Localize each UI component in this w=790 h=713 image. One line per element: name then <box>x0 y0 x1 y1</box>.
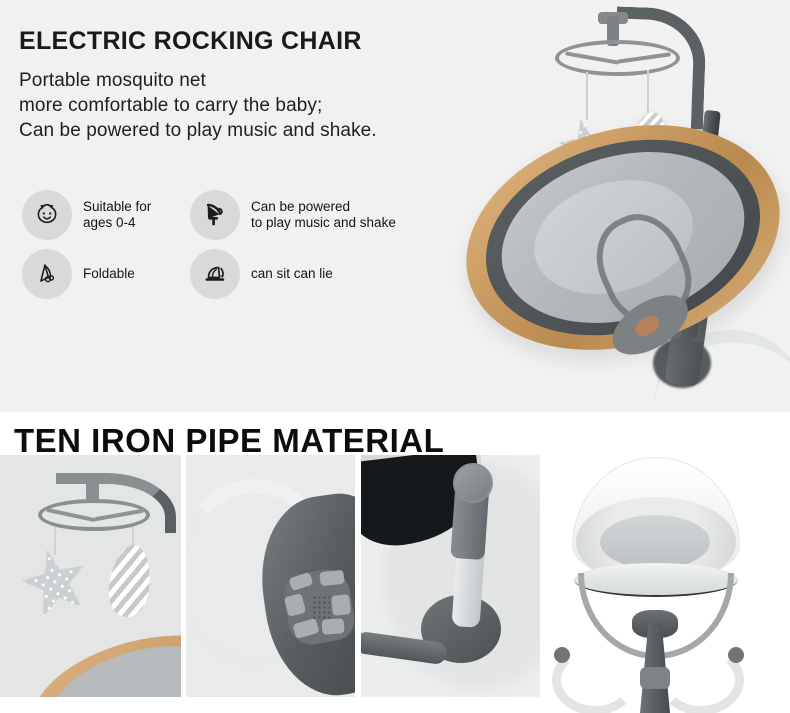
feature-list: Suitable for ages 0-4 Can be powered <box>22 185 410 303</box>
hinge-cap <box>453 463 493 503</box>
control-button[interactable] <box>319 570 344 586</box>
foldable-stroller-icon <box>22 249 72 299</box>
feature-label-powered: Can be powered to play music and shake <box>251 199 396 231</box>
hero-section: ELECTRIC ROCKING CHAIR Portable mosquito… <box>0 0 790 412</box>
foot-tip <box>728 647 744 663</box>
feature-label-recline-line-1: can sit can lie <box>251 266 333 282</box>
feature-label-powered-line-1: Can be powered <box>251 199 396 215</box>
material-banner-section: TEN IRON PIPE MATERIAL <box>0 412 790 713</box>
mobile-spoke <box>94 509 144 522</box>
feature-item-age: Suitable for ages 0-4 <box>22 185 190 244</box>
hero-subtitle-line-3: Can be powered to play music and shake. <box>19 118 377 143</box>
feature-label-recline: can sit can lie <box>251 266 333 282</box>
control-button[interactable] <box>331 594 351 616</box>
toy-string <box>647 70 649 114</box>
hero-subtitle-line-1: Portable mosquito net <box>19 68 377 93</box>
panel-full-product <box>540 455 790 713</box>
feature-item-foldable: Foldable <box>22 244 190 303</box>
wood-trim-frame <box>19 614 181 697</box>
foot-tip <box>554 647 570 663</box>
seat-cushion <box>600 515 710 569</box>
mobile-spoke <box>46 508 96 522</box>
feature-label-age: Suitable for ages 0-4 <box>83 199 151 231</box>
feature-label-age-line-1: Suitable for <box>83 199 151 215</box>
feature-item-powered: Can be powered to play music and shake <box>190 185 410 244</box>
hero-product-image <box>455 0 790 412</box>
feature-label-age-line-2: ages 0-4 <box>83 215 151 231</box>
hero-subtitle-line-2: more comfortable to carry the baby; <box>19 93 377 118</box>
baby-face-icon <box>22 190 72 240</box>
page-title: ELECTRIC ROCKING CHAIR <box>19 27 362 56</box>
seat-shell <box>463 109 784 366</box>
recline-adjust-icon <box>190 249 240 299</box>
shell-toy <box>105 543 155 620</box>
feature-item-recline: can sit can lie <box>190 244 410 303</box>
feature-label-powered-line-2: to play music and shake <box>251 215 396 231</box>
powered-swing-icon <box>190 190 240 240</box>
panel-control-panel <box>186 455 355 697</box>
toy-string <box>586 72 588 120</box>
toy-string <box>54 527 56 555</box>
feature-label-foldable-line-1: Foldable <box>83 266 135 282</box>
feature-label-foldable: Foldable <box>83 266 135 282</box>
seat-cushion-outer <box>481 125 764 350</box>
mobile-ring <box>555 40 680 76</box>
detail-photo-strip <box>0 455 790 713</box>
mobile-spoke <box>565 51 619 64</box>
hero-subtitle: Portable mosquito net more comfortable t… <box>19 68 377 143</box>
panel-mobile-toys <box>0 455 181 697</box>
mobile-spoke <box>617 52 671 63</box>
product-detail-page: ELECTRIC ROCKING CHAIR Portable mosquito… <box>0 0 790 713</box>
banner-title: TEN IRON PIPE MATERIAL <box>14 422 444 460</box>
panel-pivot-joint <box>361 455 540 697</box>
speaker-grille <box>312 595 330 621</box>
